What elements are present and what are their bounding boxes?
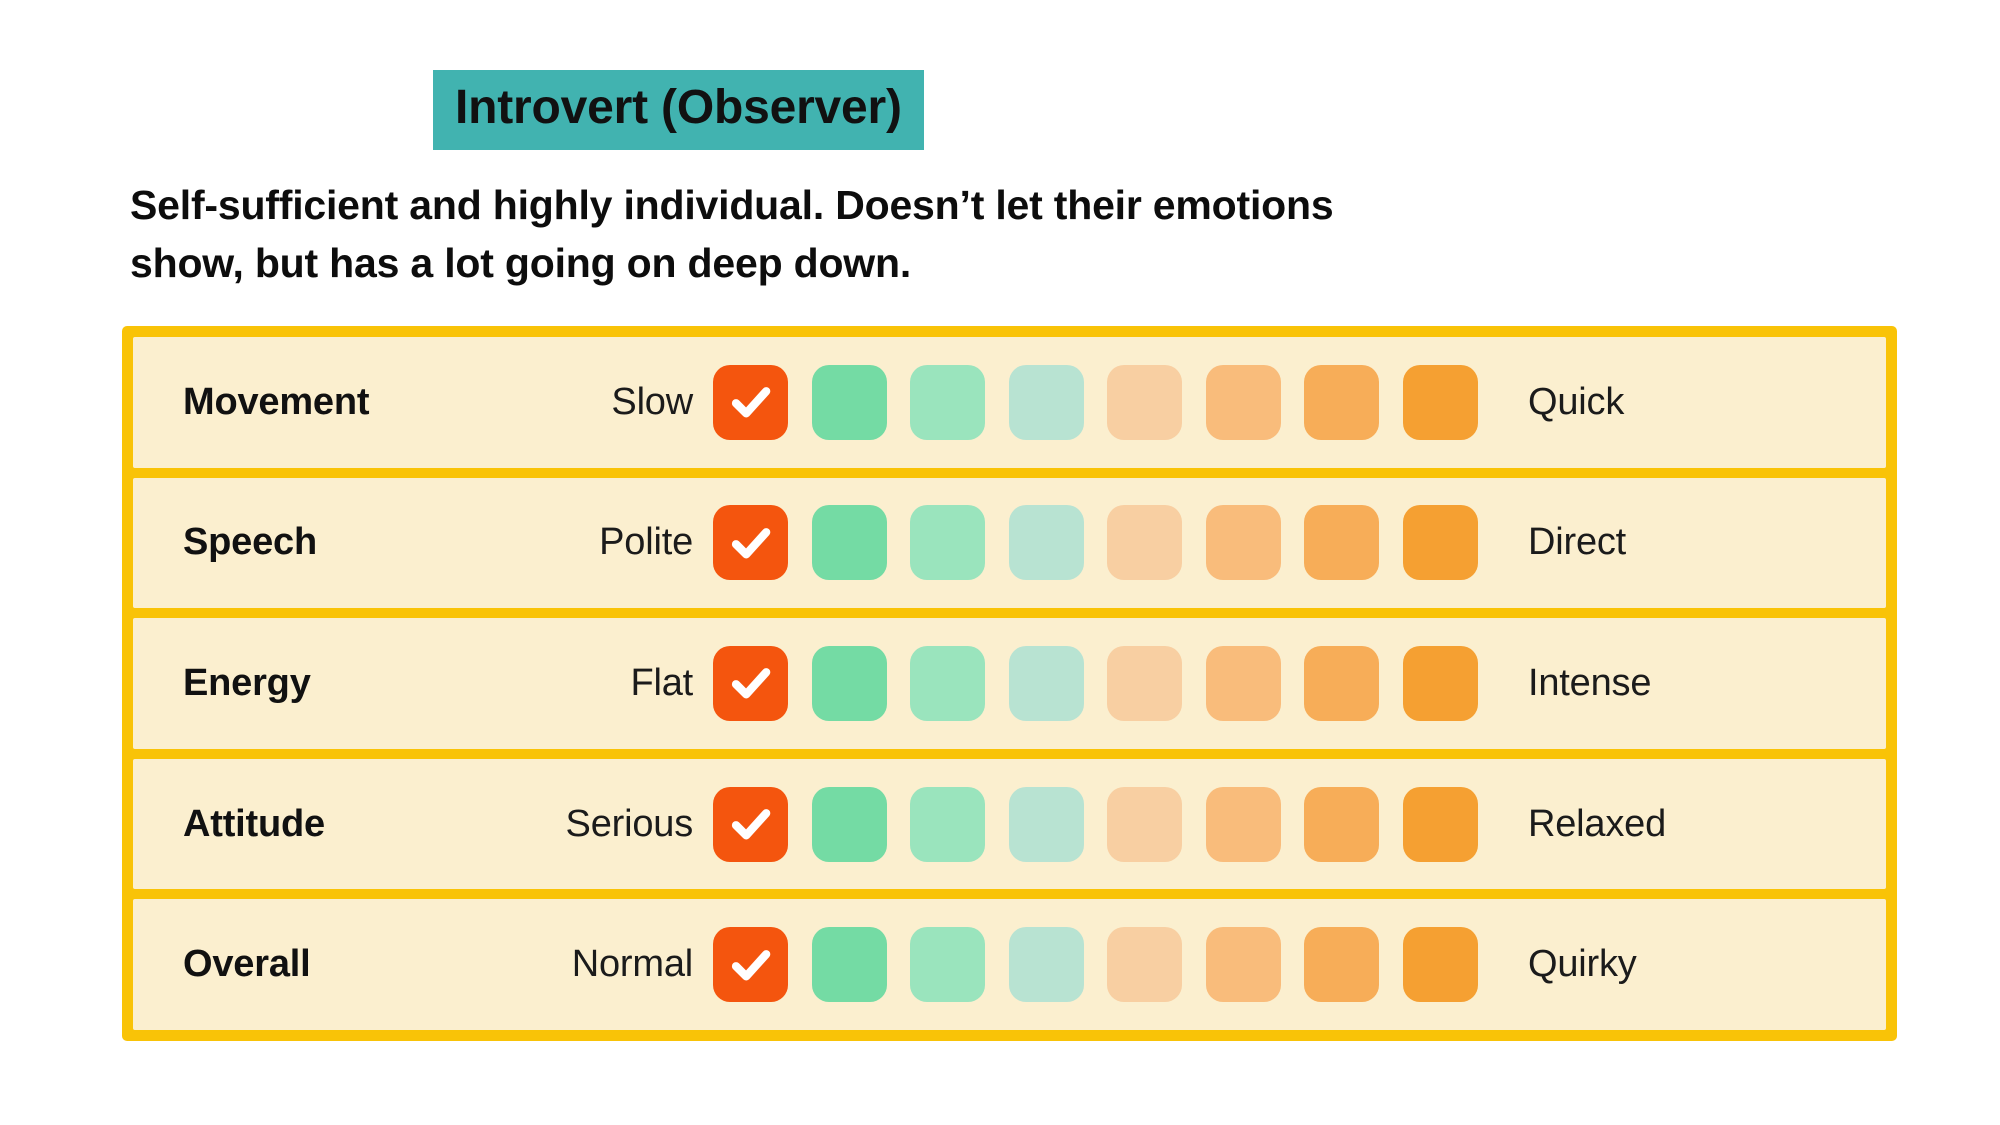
scale-option[interactable]: [1206, 365, 1281, 440]
scale-option[interactable]: [1206, 646, 1281, 721]
scale-option[interactable]: [1304, 505, 1379, 580]
trait-label: Energy: [183, 662, 311, 705]
page-title-wrap: Introvert (Observer): [433, 70, 924, 150]
trait-label: Speech: [183, 521, 317, 564]
scale-option[interactable]: [812, 505, 887, 580]
scale-option[interactable]: [812, 927, 887, 1002]
scale-option[interactable]: [1403, 927, 1478, 1002]
check-icon: [727, 519, 775, 567]
scale-option[interactable]: [1107, 505, 1182, 580]
card-description: Self-sufficient and highly individual. D…: [130, 176, 1420, 292]
scale-option[interactable]: [1403, 505, 1478, 580]
scale-option[interactable]: [1107, 927, 1182, 1002]
rating-scale: [713, 646, 1478, 721]
scale-option-selected[interactable]: [713, 505, 788, 580]
scale-option[interactable]: [812, 646, 887, 721]
scale-option[interactable]: [910, 646, 985, 721]
scale-option-selected[interactable]: [713, 646, 788, 721]
left-pole-label: Flat: [443, 662, 693, 705]
check-icon: [727, 659, 775, 707]
scale-option[interactable]: [910, 505, 985, 580]
scale-option[interactable]: [1009, 787, 1084, 862]
scale-option[interactable]: [1009, 646, 1084, 721]
right-pole-label: Intense: [1528, 662, 1651, 705]
scale-option[interactable]: [910, 787, 985, 862]
check-icon: [727, 800, 775, 848]
rating-scale: [713, 927, 1478, 1002]
right-pole-label: Direct: [1528, 521, 1626, 564]
scale-option[interactable]: [910, 927, 985, 1002]
left-pole-label: Normal: [443, 943, 693, 986]
scale-option[interactable]: [1403, 787, 1478, 862]
scale-option[interactable]: [812, 365, 887, 440]
scale-option[interactable]: [1107, 646, 1182, 721]
check-icon: [727, 941, 775, 989]
rating-scale: [713, 505, 1478, 580]
trait-row: EnergyFlatIntense: [133, 618, 1886, 749]
scale-option[interactable]: [1304, 927, 1379, 1002]
left-pole-label: Serious: [443, 803, 693, 846]
scale-option[interactable]: [1304, 787, 1379, 862]
trait-table: MovementSlowQuickSpeechPoliteDirectEnerg…: [122, 326, 1897, 1041]
trait-label: Attitude: [183, 803, 325, 846]
scale-option[interactable]: [812, 787, 887, 862]
trait-label: Movement: [183, 381, 369, 424]
right-pole-label: Relaxed: [1528, 803, 1666, 846]
trait-label: Overall: [183, 943, 310, 986]
scale-option[interactable]: [1206, 927, 1281, 1002]
trait-row: MovementSlowQuick: [133, 337, 1886, 468]
scale-option[interactable]: [1304, 646, 1379, 721]
scale-option[interactable]: [1403, 365, 1478, 440]
scale-option[interactable]: [1206, 505, 1281, 580]
scale-option[interactable]: [910, 365, 985, 440]
scale-option-selected[interactable]: [713, 365, 788, 440]
scale-option[interactable]: [1403, 646, 1478, 721]
trait-row: AttitudeSeriousRelaxed: [133, 759, 1886, 890]
scale-option[interactable]: [1009, 505, 1084, 580]
left-pole-label: Slow: [443, 381, 693, 424]
scale-option[interactable]: [1304, 365, 1379, 440]
scale-option-selected[interactable]: [713, 787, 788, 862]
scale-option[interactable]: [1107, 365, 1182, 440]
rating-scale: [713, 365, 1478, 440]
trait-row: OverallNormalQuirky: [133, 899, 1886, 1030]
right-pole-label: Quick: [1528, 381, 1624, 424]
scale-option[interactable]: [1107, 787, 1182, 862]
personality-scale-card: Introvert (Observer) Self-sufficient and…: [0, 0, 2000, 1125]
trait-row: SpeechPoliteDirect: [133, 478, 1886, 609]
scale-option[interactable]: [1206, 787, 1281, 862]
rating-scale: [713, 787, 1478, 862]
right-pole-label: Quirky: [1528, 943, 1637, 986]
card-header: Introvert (Observer) Self-sufficient and…: [130, 70, 1890, 292]
check-icon: [727, 378, 775, 426]
scale-option[interactable]: [1009, 927, 1084, 1002]
scale-option-selected[interactable]: [713, 927, 788, 1002]
left-pole-label: Polite: [443, 521, 693, 564]
scale-option[interactable]: [1009, 365, 1084, 440]
page-title: Introvert (Observer): [433, 70, 924, 150]
